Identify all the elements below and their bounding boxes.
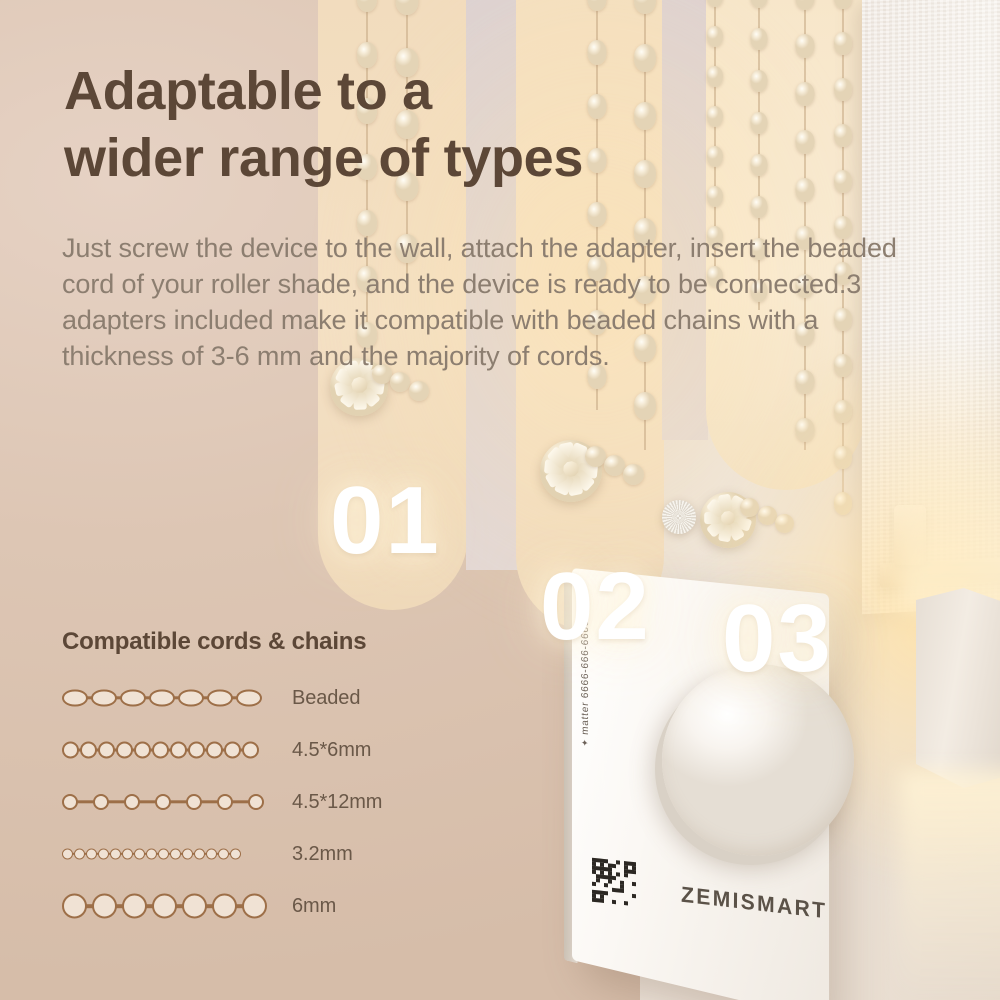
chain-bead: [834, 0, 852, 9]
chain-bead: [751, 196, 768, 218]
chain-bead: [751, 0, 768, 8]
compatibility-row: 4.5*6mm: [62, 730, 482, 770]
chain-link: [224, 742, 241, 759]
chain-link: [62, 894, 87, 919]
headline-line-2: wider range of types: [64, 125, 784, 192]
chain-bead: [834, 78, 852, 101]
chain-bead: [634, 0, 656, 14]
compatibility-row: 6mm: [62, 886, 482, 926]
compatibility-row: Beaded: [62, 678, 482, 718]
description-paragraph: Just screw the device to the wall, attac…: [62, 231, 928, 375]
compatibility-row: 4.5*12mm: [62, 782, 482, 822]
adapter-hub-cap: [662, 500, 696, 534]
chain-link: [206, 742, 223, 759]
chain-glyph-spaced-round-chain: [62, 787, 274, 817]
matter-logo-icon: ✦: [580, 734, 590, 747]
chain-link: [155, 794, 171, 810]
chain-link: [242, 894, 267, 919]
chain-link: [236, 690, 262, 707]
chain-link: [74, 849, 85, 860]
chain-link: [92, 894, 117, 919]
marketing-image-canvas: ✦ matter 6666-666-6666 ZEMISMART 01 02 0…: [0, 0, 1000, 1000]
chain-link: [134, 849, 145, 860]
step-number-01: 01: [330, 466, 441, 576]
step-number-02: 02: [540, 552, 651, 662]
chain-link: [62, 742, 79, 759]
chain-bead: [357, 0, 377, 12]
chain-link: [93, 794, 109, 810]
compatibility-list: Beaded4.5*6mm4.5*12mm3.2mm6mm: [62, 678, 482, 926]
adapter-bead: [409, 381, 429, 401]
compatibility-title: Compatible cords & chains: [62, 628, 482, 656]
chain-link: [158, 849, 169, 860]
chain-link: [91, 690, 117, 707]
chain-glyph-oval-chain: [62, 683, 274, 713]
chain-link: [218, 849, 229, 860]
chain-bead: [834, 170, 852, 193]
chain-connector: [139, 800, 156, 803]
chain-link: [62, 794, 78, 810]
chain-connector: [77, 800, 94, 803]
compatibility-section: Compatible cords & chains Beaded4.5*6mm4…: [62, 628, 482, 938]
chain-bead: [707, 26, 723, 47]
chain-link: [170, 849, 181, 860]
chain-bead: [588, 202, 607, 227]
chain-connector: [232, 800, 249, 803]
chain-connector: [201, 800, 218, 803]
chain-link: [120, 690, 146, 707]
chain-link: [230, 849, 241, 860]
chain-glyph-fine-round-chain: [62, 839, 274, 869]
adapter-bead: [623, 464, 644, 485]
compatibility-row: 3.2mm: [62, 834, 482, 874]
chain-bead: [796, 82, 815, 106]
chain-link: [188, 742, 205, 759]
chain-adapter-2: [540, 440, 602, 502]
chain-link: [124, 794, 140, 810]
chain-link: [98, 742, 115, 759]
chain-link: [207, 690, 233, 707]
chain-link: [182, 894, 207, 919]
chain-link: [134, 742, 151, 759]
chain-bead: [634, 392, 656, 420]
chain-bead: [588, 0, 607, 11]
compatibility-label: 6mm: [292, 895, 336, 918]
chain-bead: [796, 178, 815, 202]
chain-bead: [796, 130, 815, 154]
chain-link: [152, 742, 169, 759]
chain-bead: [796, 0, 815, 10]
chain-link: [62, 690, 88, 707]
adapter-bead: [604, 455, 625, 476]
chain-link: [217, 794, 233, 810]
chain-link: [248, 794, 264, 810]
chain-bead: [834, 32, 852, 55]
chain-link: [80, 742, 97, 759]
chain-link: [212, 894, 237, 919]
chain-bead: [796, 34, 815, 58]
chain-link: [146, 849, 157, 860]
compatibility-label: 4.5*12mm: [292, 791, 382, 814]
chain-link: [122, 894, 147, 919]
chain-glyph-large-round-chain: [62, 891, 274, 921]
chain-link: [186, 794, 202, 810]
qr-code-icon: [592, 858, 636, 911]
chain-connector: [170, 800, 187, 803]
compatibility-label: 3.2mm: [292, 843, 353, 866]
chain-link: [98, 849, 109, 860]
compatibility-label: Beaded: [292, 687, 360, 710]
chain-link: [178, 690, 204, 707]
matter-label: matter: [580, 701, 591, 735]
chain-bead: [751, 28, 768, 50]
chain-link: [170, 742, 187, 759]
chain-connector: [108, 800, 125, 803]
adapter-bead: [585, 446, 606, 467]
wall-sconce: [916, 588, 1000, 788]
chain-bead: [396, 0, 419, 15]
chain-link: [62, 849, 73, 860]
chain-bead: [707, 0, 723, 7]
chain-link: [206, 849, 217, 860]
chain-link: [182, 849, 193, 860]
chain-link: [110, 849, 121, 860]
chain-link: [242, 742, 259, 759]
chain-link: [86, 849, 97, 860]
chain-link: [116, 742, 133, 759]
compatibility-label: 4.5*6mm: [292, 739, 371, 762]
headline-line-1: Adaptable to a: [64, 58, 784, 125]
chain-link: [149, 690, 175, 707]
chain-glyph-tight-round-chain: [62, 735, 274, 765]
chain-link: [152, 894, 177, 919]
chain-link: [194, 849, 205, 860]
chain-bead: [834, 124, 852, 147]
chain-link: [122, 849, 133, 860]
sconce-downlight: [900, 770, 1000, 1000]
step-number-03: 03: [722, 584, 833, 694]
sconce-uplight: [900, 420, 1000, 610]
page-title: Adaptable to a wider range of types: [64, 58, 784, 192]
